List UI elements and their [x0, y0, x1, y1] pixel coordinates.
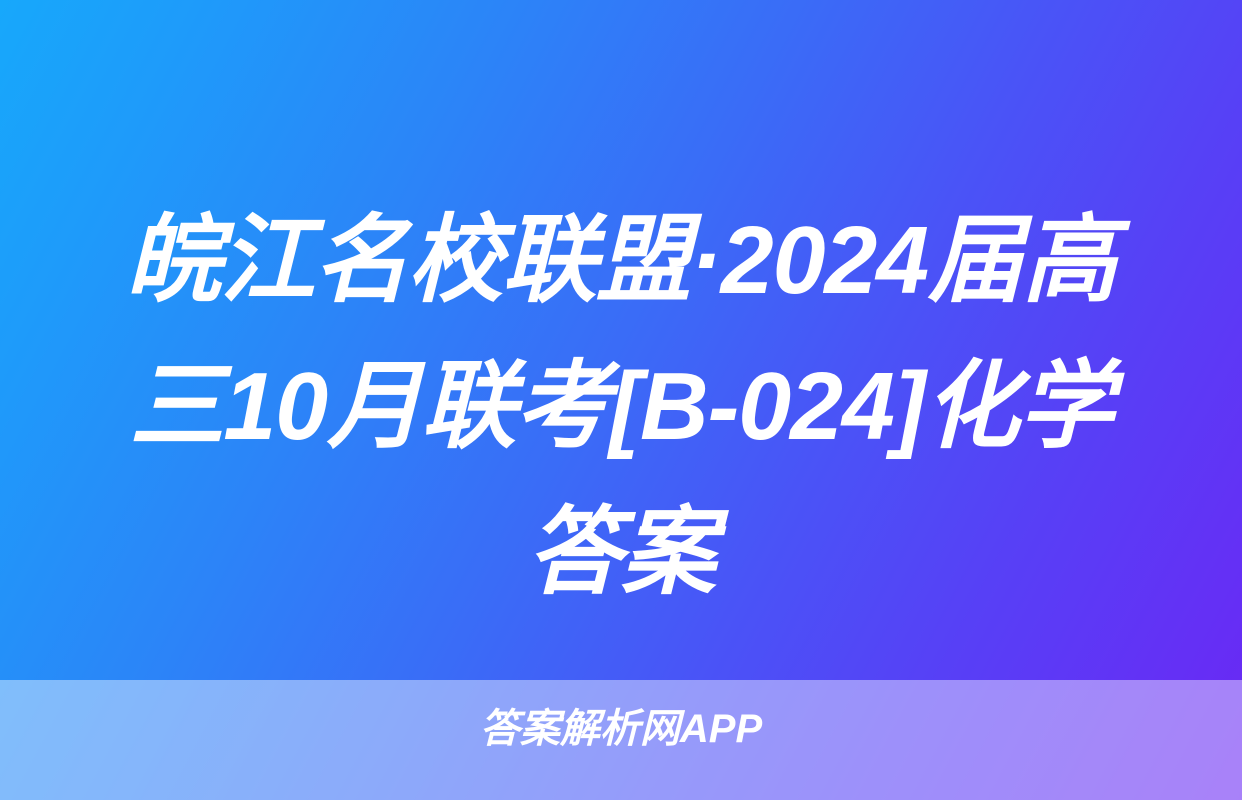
title-line-2: 三10月联考[B-024]化学: [67, 334, 1176, 480]
footer-watermark-text: 答案解析网APP: [0, 704, 1242, 754]
title-line-1: 皖江名校联盟·2024届高: [67, 188, 1176, 334]
poster-canvas: 皖江名校联盟·2024届高 三10月联考[B-024]化学 答案 答案解析网AP…: [0, 0, 1242, 800]
title-line-3: 答案: [67, 480, 1176, 626]
poster-title-block: 皖江名校联盟·2024届高 三10月联考[B-024]化学 答案: [61, 188, 1181, 626]
